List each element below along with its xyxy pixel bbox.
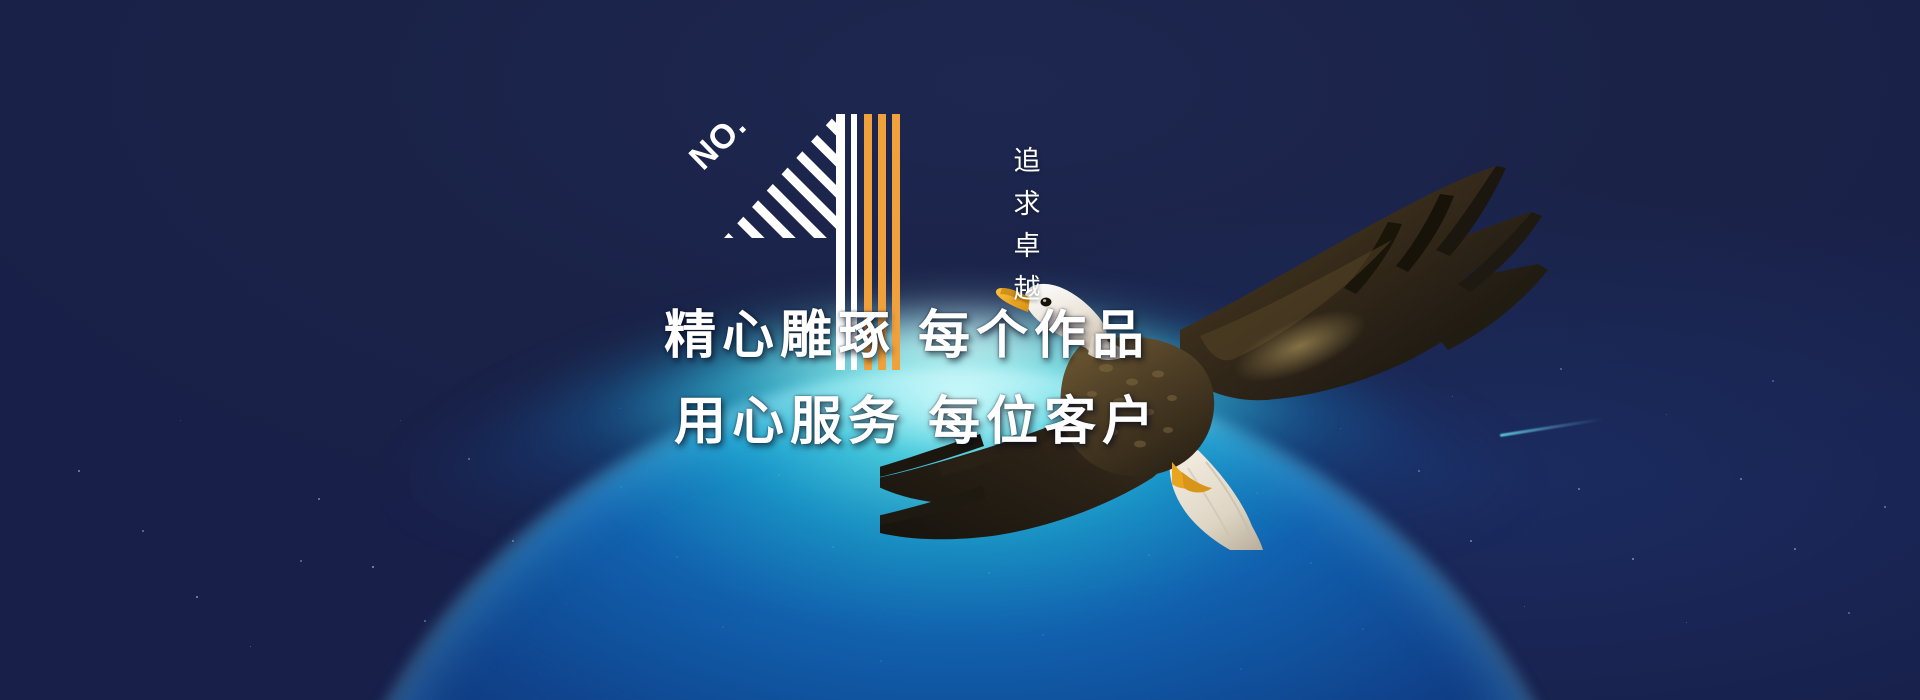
headline-line1-part1: 精心雕琢 <box>664 307 896 365</box>
vertical-slogan-char: 求 <box>1004 183 1052 226</box>
headline-line2-part2: 每位客户 <box>928 393 1160 451</box>
vertical-slogan-char: 追 <box>1004 140 1052 183</box>
headline-line1-part2: 每个作品 <box>918 307 1150 365</box>
headline-line2-part1: 用心服务 <box>674 393 906 451</box>
headline-line-2: 用心服务每位客户 <box>0 386 1160 460</box>
vertical-slogan: 追 求 卓 越 <box>1004 140 1052 311</box>
hero-banner: NO. <box>0 0 1920 700</box>
vertical-slogan-char: 卓 <box>1004 225 1052 268</box>
headline-line-1: 精心雕琢每个作品 <box>0 300 1160 374</box>
headline-block: 精心雕琢每个作品 用心服务每位客户 <box>0 300 1160 460</box>
